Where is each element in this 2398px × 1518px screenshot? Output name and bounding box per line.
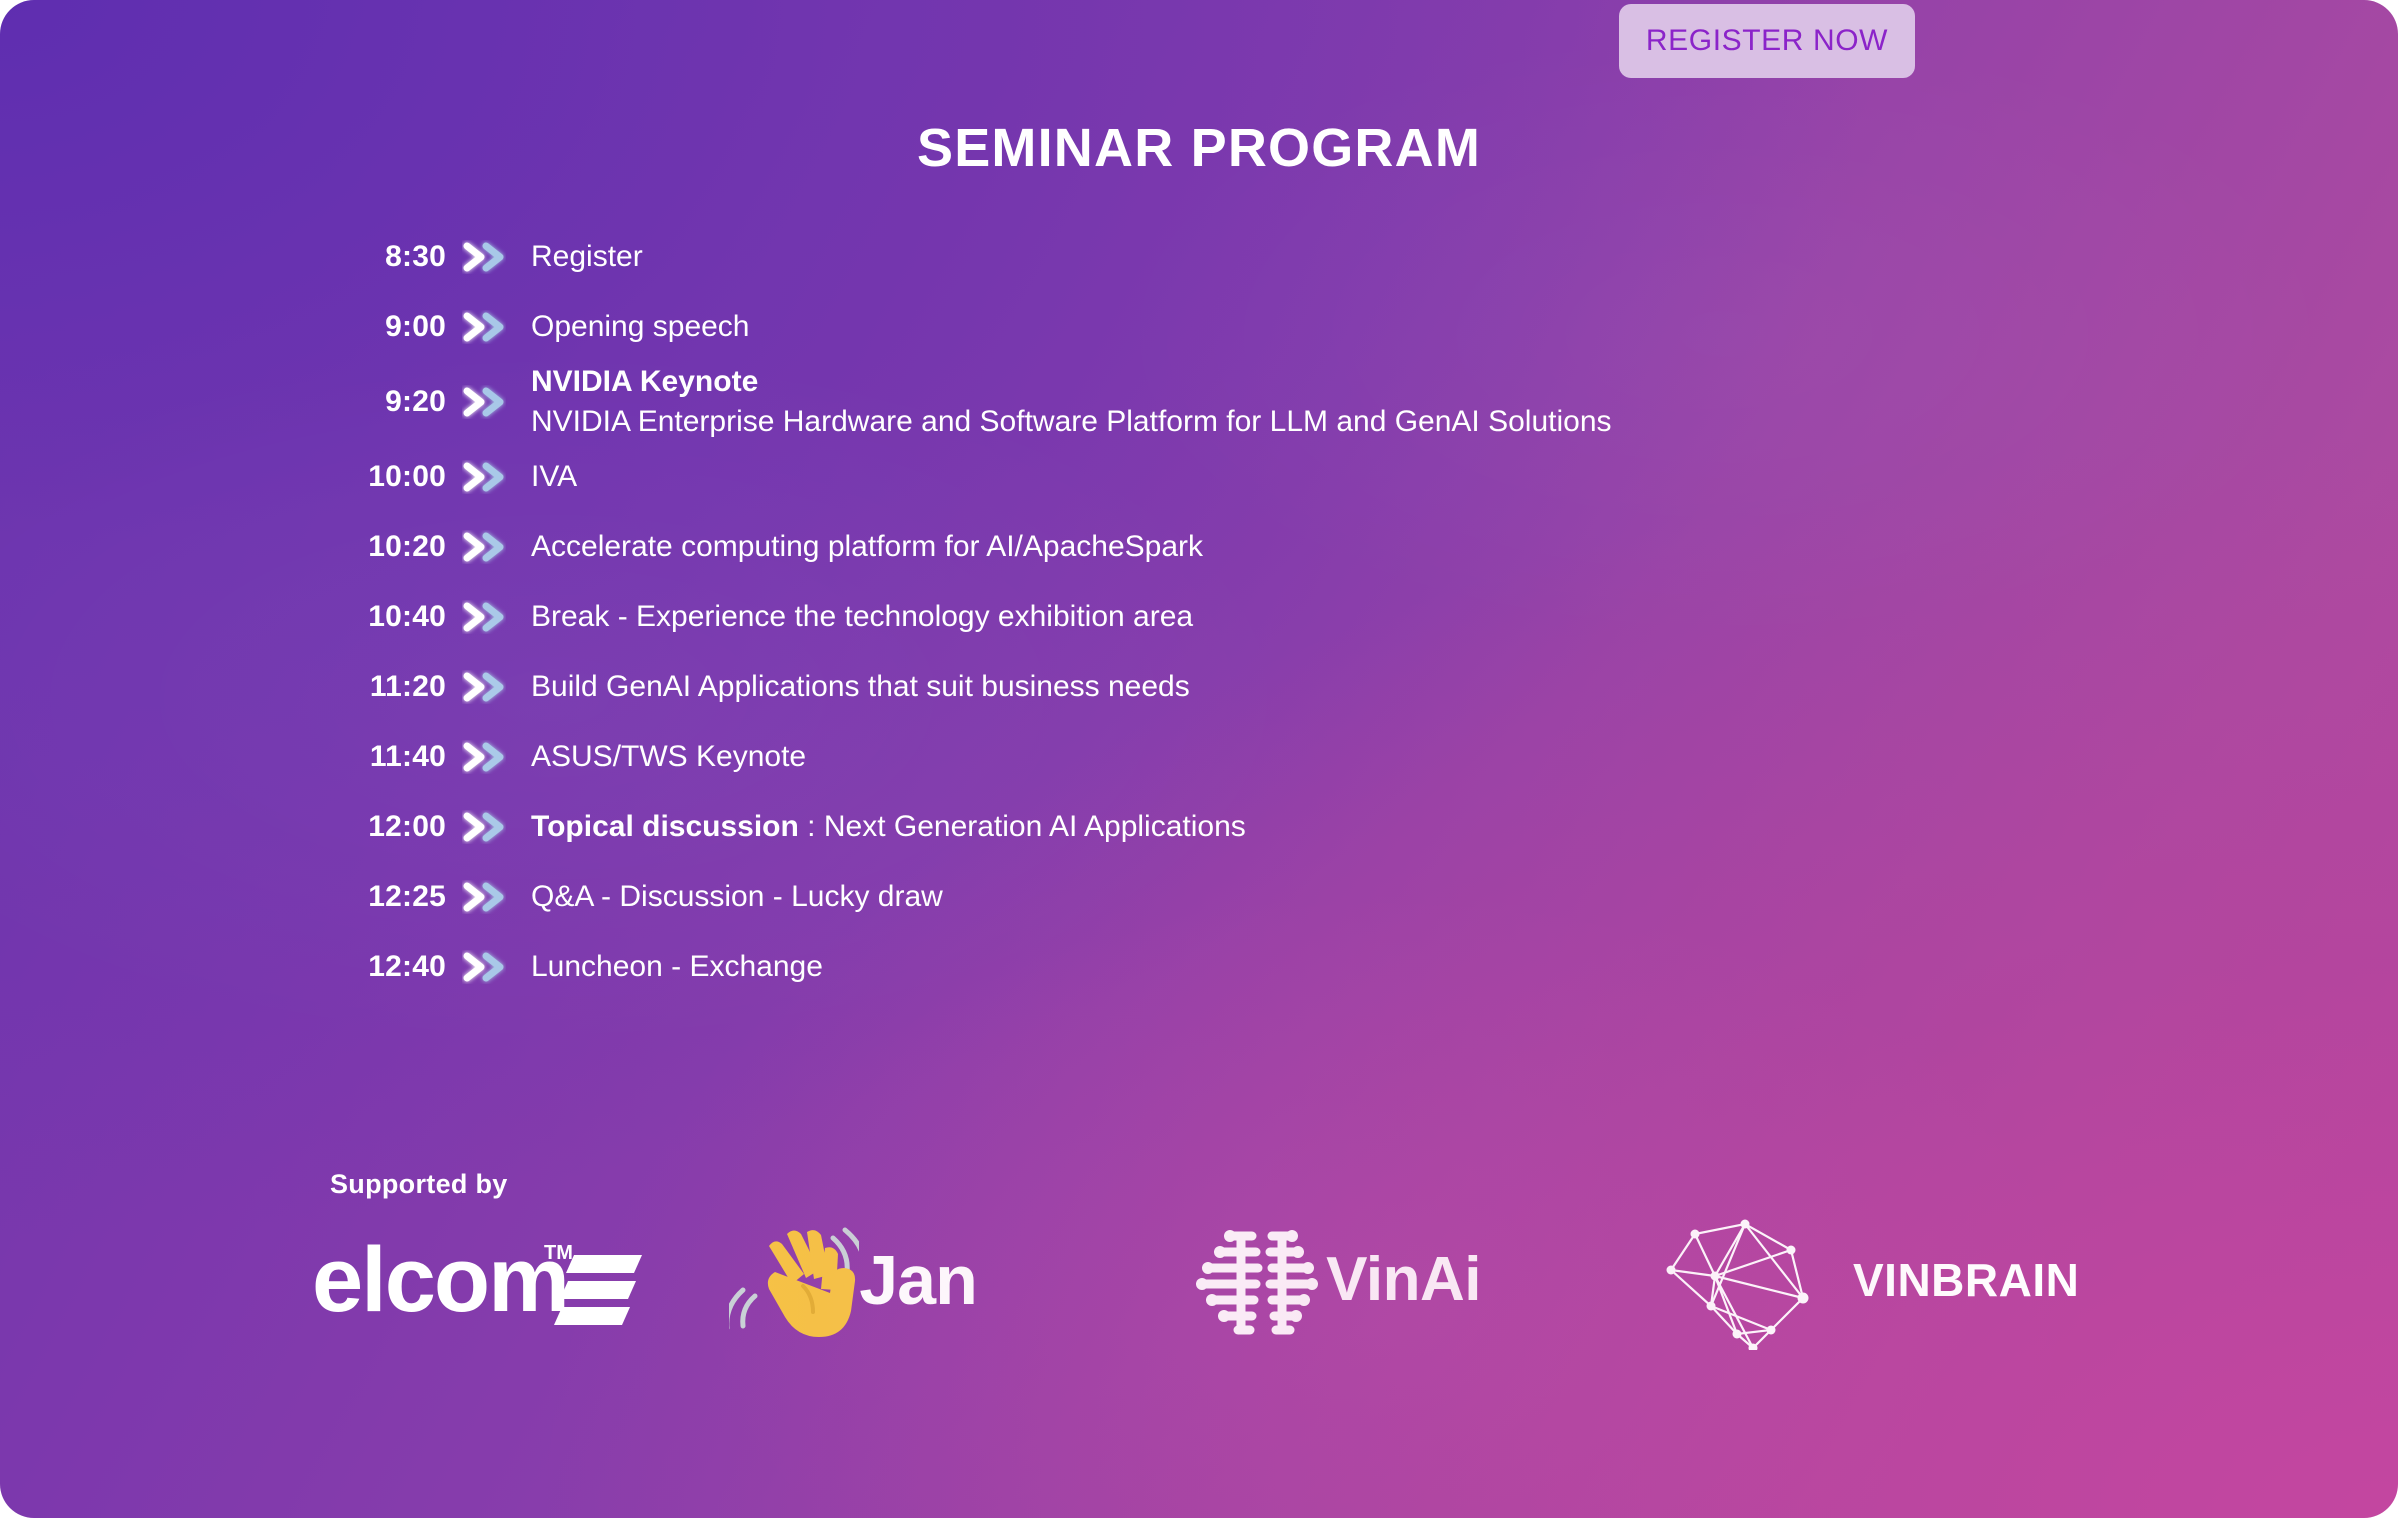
schedule-description: Build GenAI Applications that suit busin… — [522, 667, 2026, 707]
sponsor-logo-vinai[interactable]: VinAi — [1186, 1215, 1653, 1345]
schedule-subtitle: NVIDIA Enterprise Hardware and Software … — [531, 402, 2026, 442]
vinai-circuit-icon — [1186, 1220, 1326, 1340]
schedule-row: 9:00Opening speech — [326, 292, 2026, 362]
schedule-row: 8:30Register — [326, 222, 2026, 292]
schedule-row: 12:00Topical discussion : Next Generatio… — [326, 792, 2026, 862]
schedule-label: : Next Generation AI Applications — [799, 810, 1246, 843]
schedule-label: IVA — [531, 460, 577, 493]
schedule-row: 10:20Accelerate computing platform for A… — [326, 512, 2026, 582]
schedule-description: Topical discussion : Next Generation AI … — [522, 807, 2026, 847]
schedule-time: 12:25 — [326, 880, 446, 914]
schedule-description: Luncheon - Exchange — [522, 947, 2026, 987]
schedule-row: 11:40ASUS/TWS Keynote — [326, 722, 2026, 792]
schedule-description: Opening speech — [522, 307, 2026, 347]
sponsor-logo-jan[interactable]: Jan — [729, 1215, 1186, 1345]
double-chevron-icon — [446, 950, 522, 984]
schedule-label: Build GenAI Applications that suit busin… — [531, 670, 1190, 703]
schedule-row: 11:20Build GenAI Applications that suit … — [326, 652, 2026, 722]
double-chevron-icon — [446, 385, 522, 419]
schedule-time: 8:30 — [326, 240, 446, 274]
page-title: SEMINAR PROGRAM — [0, 117, 2398, 179]
double-chevron-icon — [446, 600, 522, 634]
supported-by-label: Supported by — [330, 1169, 508, 1200]
sponsor-logo-vinbrain[interactable]: VINBRAIN — [1653, 1215, 2100, 1345]
schedule-description: IVA — [522, 457, 2026, 497]
brain-network-icon — [1653, 1210, 1853, 1350]
sponsor-logo-elcom[interactable]: elcom TM — [300, 1215, 729, 1345]
schedule-title: NVIDIA Keynote — [531, 362, 2026, 402]
schedule-description: Register — [522, 237, 2026, 277]
schedule-label: Q&A - Discussion - Lucky draw — [531, 880, 943, 913]
seminar-schedule-list: 8:30Register9:00Opening speech9:20NVIDIA… — [326, 222, 2026, 1002]
schedule-time: 12:00 — [326, 810, 446, 844]
schedule-row: 10:40Break - Experience the technology e… — [326, 582, 2026, 652]
elcom-wordmark-icon: elcom TM — [312, 1225, 652, 1335]
schedule-bold-prefix: Topical discussion — [531, 810, 799, 843]
register-now-button[interactable]: REGISTER NOW — [1619, 4, 1915, 78]
schedule-row: 12:40Luncheon - Exchange — [326, 932, 2026, 1002]
double-chevron-icon — [446, 530, 522, 564]
schedule-time: 11:20 — [326, 670, 446, 704]
schedule-time: 10:00 — [326, 460, 446, 494]
double-chevron-icon — [446, 880, 522, 914]
schedule-description: Break - Experience the technology exhibi… — [522, 597, 2026, 637]
double-chevron-icon — [446, 460, 522, 494]
double-chevron-icon — [446, 240, 522, 274]
schedule-description: NVIDIA KeynoteNVIDIA Enterprise Hardware… — [522, 362, 2026, 442]
waving-hand-icon — [729, 1220, 859, 1340]
schedule-time: 10:40 — [326, 600, 446, 634]
schedule-description: ASUS/TWS Keynote — [522, 737, 2026, 777]
double-chevron-icon — [446, 740, 522, 774]
double-chevron-icon — [446, 310, 522, 344]
schedule-time: 10:20 — [326, 530, 446, 564]
schedule-time: 9:00 — [326, 310, 446, 344]
schedule-label: Break - Experience the technology exhibi… — [531, 600, 1193, 633]
schedule-time: 11:40 — [326, 740, 446, 774]
svg-text:TM: TM — [544, 1242, 573, 1264]
sponsor-logo-row: elcom TM — [300, 1205, 2100, 1355]
schedule-row: 9:20NVIDIA KeynoteNVIDIA Enterprise Hard… — [326, 362, 2026, 442]
schedule-time: 12:40 — [326, 950, 446, 984]
schedule-label: Luncheon - Exchange — [531, 950, 823, 983]
schedule-time: 9:20 — [326, 385, 446, 419]
double-chevron-icon — [446, 810, 522, 844]
schedule-row: 10:00IVA — [326, 442, 2026, 512]
double-chevron-icon — [446, 670, 522, 704]
jan-wordmark: Jan — [859, 1245, 977, 1315]
vinbrain-wordmark: VINBRAIN — [1853, 1257, 2079, 1303]
schedule-label: Opening speech — [531, 310, 750, 343]
seminar-program-poster: REGISTER NOW SEMINAR PROGRAM 8:30Registe… — [0, 0, 2398, 1518]
schedule-label: Register — [531, 240, 643, 273]
schedule-description: Q&A - Discussion - Lucky draw — [522, 877, 2026, 917]
svg-text:elcom: elcom — [312, 1229, 568, 1331]
vinai-wordmark: VinAi — [1326, 1249, 1481, 1311]
schedule-description: Accelerate computing platform for AI/Apa… — [522, 527, 2026, 567]
schedule-row: 12:25Q&A - Discussion - Lucky draw — [326, 862, 2026, 932]
schedule-label: ASUS/TWS Keynote — [531, 740, 806, 773]
schedule-label: Accelerate computing platform for AI/Apa… — [531, 530, 1203, 563]
